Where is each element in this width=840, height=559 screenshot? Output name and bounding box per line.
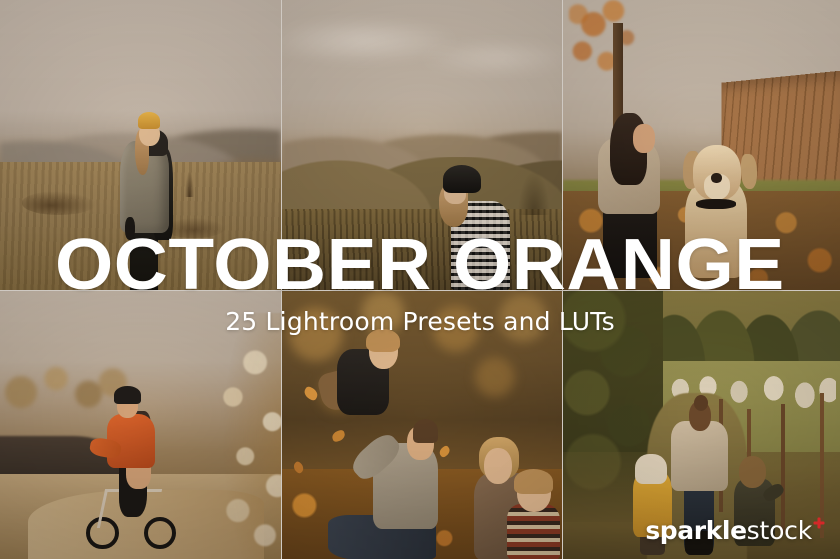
black-beanie xyxy=(443,165,482,194)
child-left-hood xyxy=(635,454,666,484)
father-figure xyxy=(366,388,456,559)
sparklestock-logo[interactable]: sparkle stock xyxy=(645,518,824,543)
hiker-figure xyxy=(112,99,179,290)
product-preview-poster: OCTOBER ORANGE 25 Lightroom Presets and … xyxy=(0,0,840,559)
cloud-layer-2 xyxy=(419,41,562,76)
photo-cell-top-right xyxy=(563,0,840,290)
child-striped-sweater xyxy=(507,504,559,559)
brush-clump-1 xyxy=(22,191,95,214)
father-hair xyxy=(413,419,438,443)
plaid-woman-figure xyxy=(436,160,520,291)
seedhead-bush xyxy=(169,313,281,559)
photo-cell-bottom-left xyxy=(0,291,281,559)
dry-shrub xyxy=(185,171,193,197)
woman-face xyxy=(633,124,655,153)
hiker-glove xyxy=(125,217,136,240)
child-right-head xyxy=(739,456,767,488)
toddler-hair xyxy=(366,329,399,353)
seated-child-figure xyxy=(500,463,562,559)
photo-cell-top-left xyxy=(0,0,281,290)
child-hair xyxy=(514,469,553,494)
crop-field-layer xyxy=(282,209,562,290)
photo-cell-top-center xyxy=(282,0,562,290)
mother-sweater xyxy=(671,421,727,491)
distant-treeline xyxy=(647,296,840,366)
logo-word-stock: stock xyxy=(747,518,812,543)
labrador-dog xyxy=(680,133,758,278)
photo-grid xyxy=(0,0,840,559)
cyclist-figure xyxy=(84,372,180,550)
hiker-beanie xyxy=(138,112,160,129)
sparkle-asterisk-icon xyxy=(813,517,824,528)
bike-helmet xyxy=(114,386,141,404)
foreground-weed xyxy=(517,168,551,214)
dog-ear-right xyxy=(741,154,757,189)
logo-word-sparkle: sparkle xyxy=(645,518,746,543)
woman-figure xyxy=(596,99,680,279)
dog-collar xyxy=(696,199,737,209)
photo-cell-bottom-center xyxy=(282,291,562,559)
dog-nose xyxy=(711,173,722,183)
fence-post-3 xyxy=(781,404,785,533)
